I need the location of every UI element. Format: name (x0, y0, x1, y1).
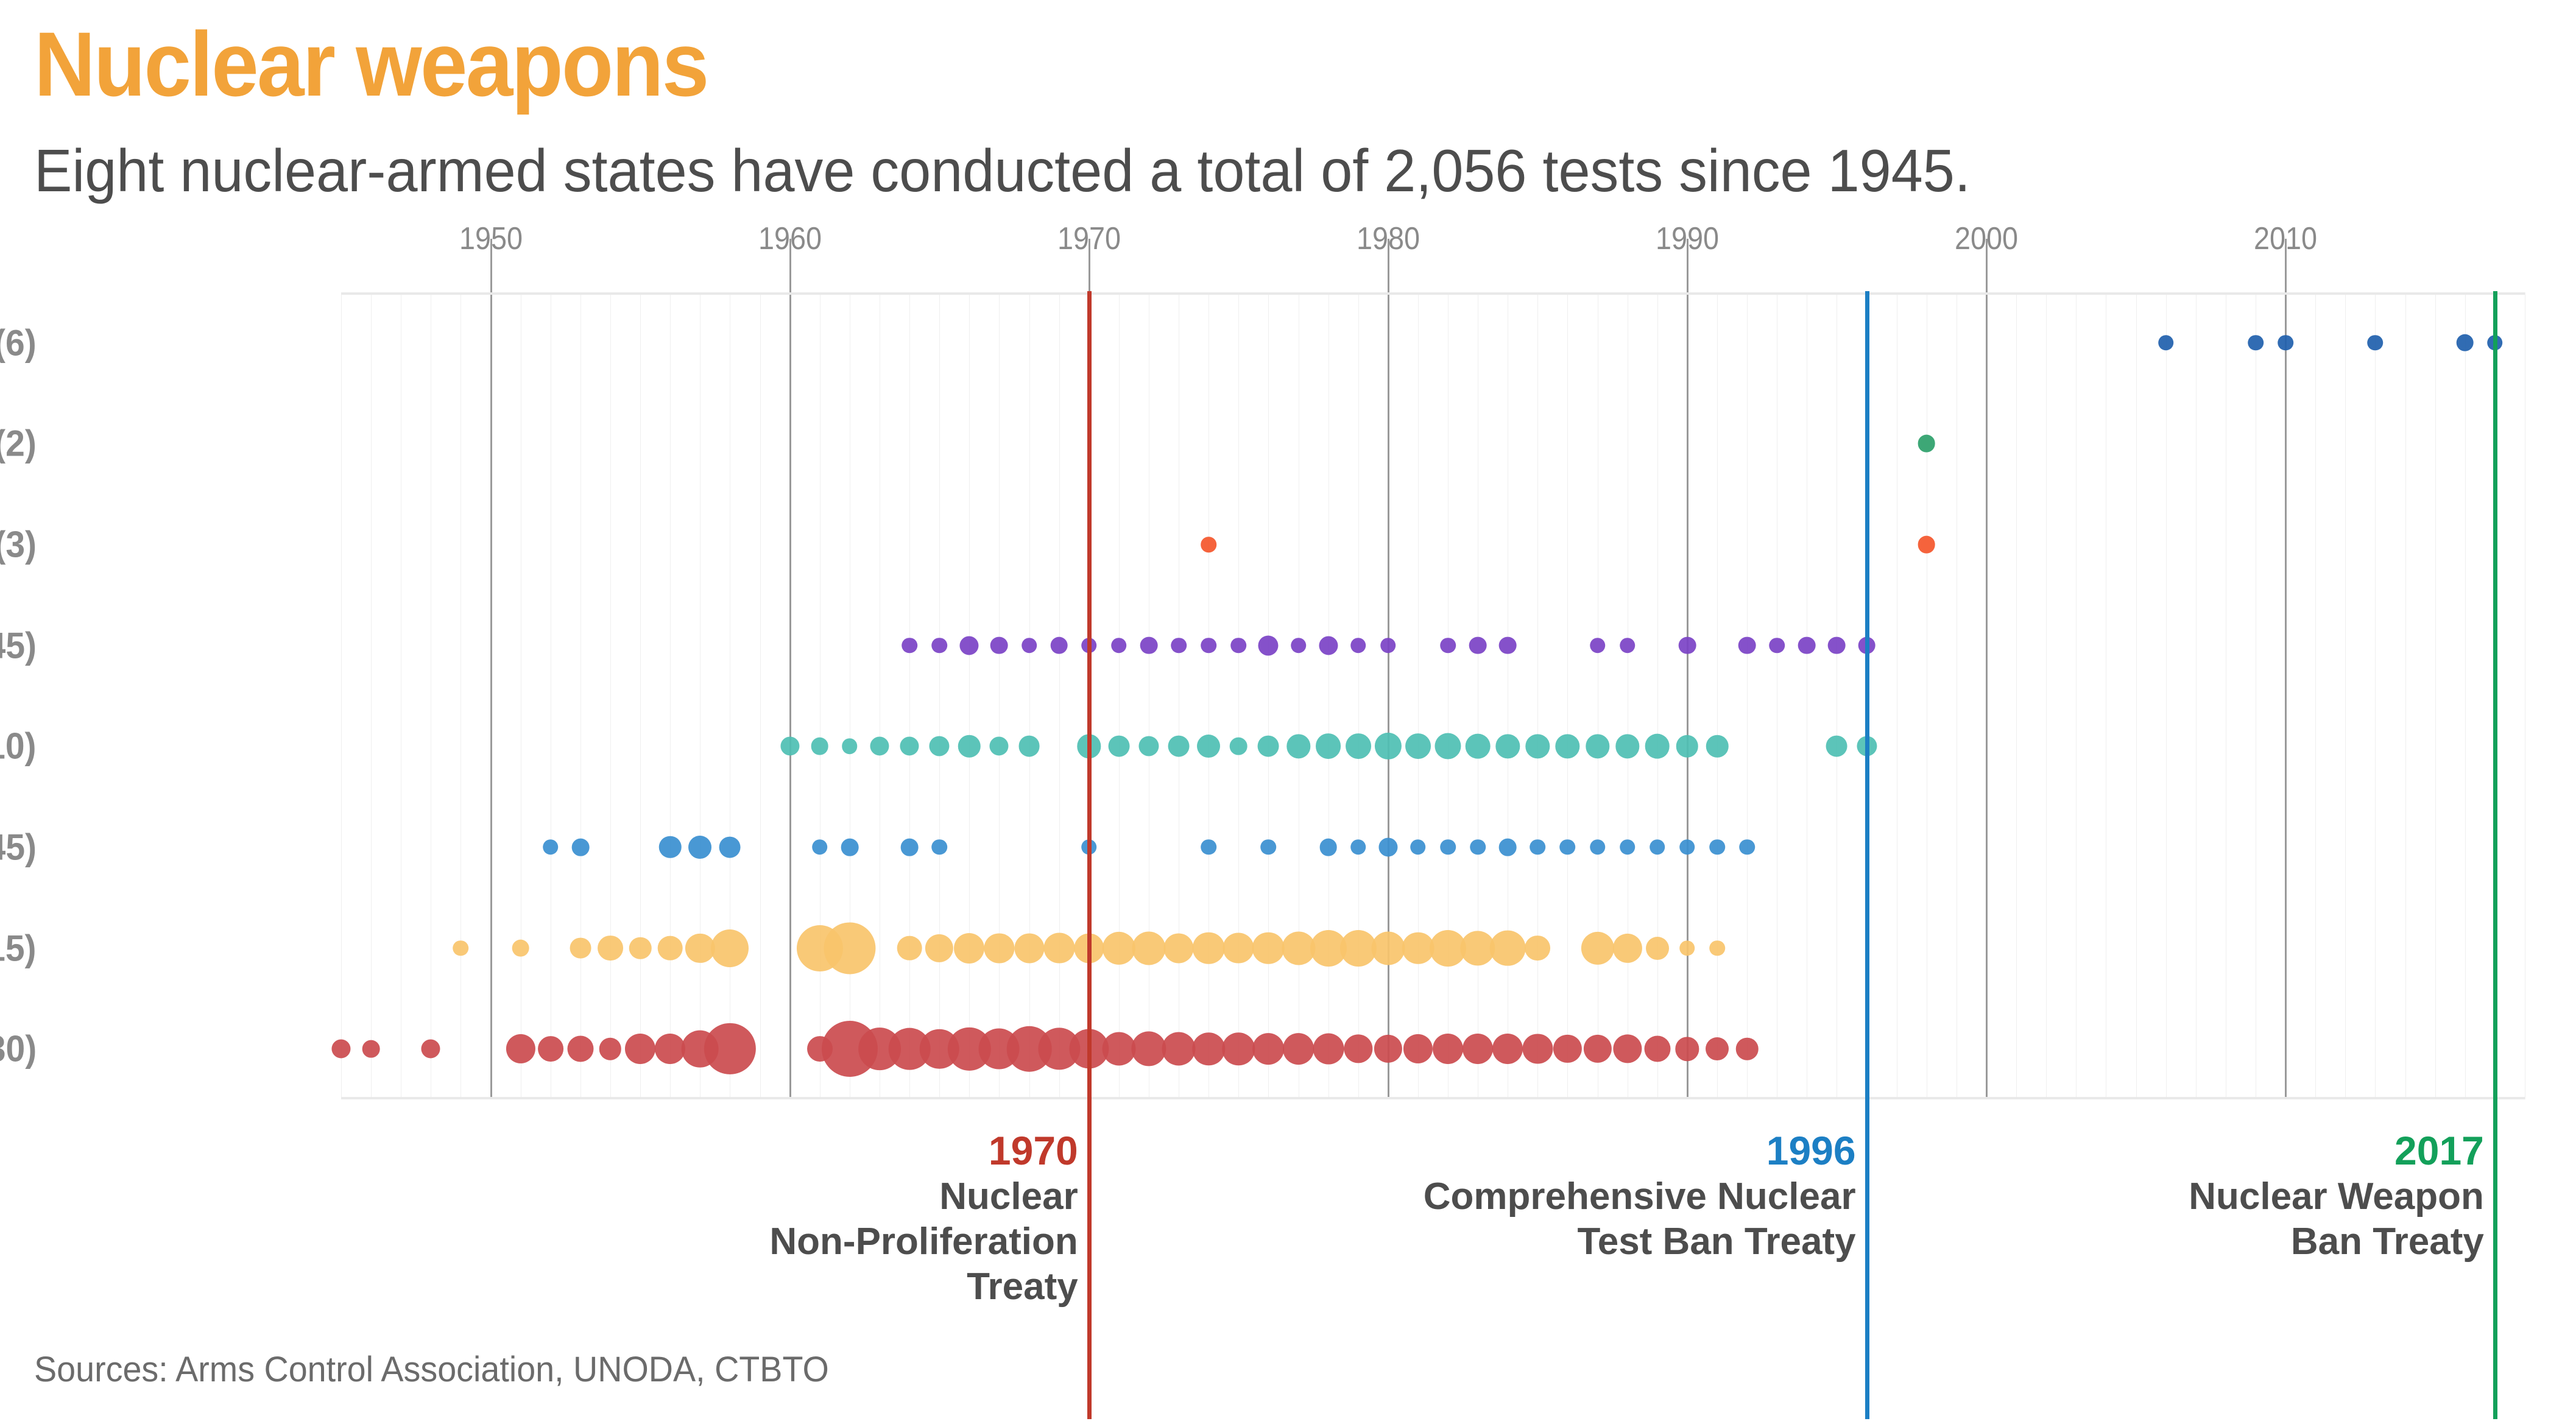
test-bubble (984, 933, 1014, 963)
test-bubble (1530, 839, 1546, 855)
test-bubble (1162, 1032, 1196, 1066)
test-bubble (1435, 733, 1461, 760)
test-bubble (1440, 638, 1456, 654)
treaty-name-line: Ban Treaty (0, 1219, 2484, 1264)
test-bubble (1676, 735, 1699, 758)
test-bubble (1463, 1034, 1493, 1064)
minor-gridline (2345, 292, 2346, 1099)
test-bubble (1583, 1035, 1611, 1063)
country-test-count: (210) (0, 726, 37, 767)
test-bubble (1560, 839, 1576, 855)
minor-gridline (1358, 292, 1359, 1099)
test-bubble (1470, 839, 1486, 855)
test-bubble (1168, 736, 1190, 757)
test-bubble (1380, 638, 1396, 654)
test-bubble (704, 1023, 755, 1074)
test-bubble (659, 836, 682, 859)
test-bubble (1590, 839, 1606, 855)
minor-gridline (2106, 292, 2106, 1099)
test-bubble (841, 839, 859, 856)
test-bubble (1371, 931, 1405, 965)
test-bubble (1258, 736, 1279, 757)
minor-gridline (1657, 292, 1658, 1099)
test-bubble (711, 929, 749, 967)
minor-gridline (999, 292, 1000, 1099)
test-bubble (1675, 1037, 1699, 1061)
minor-gridline (1209, 292, 1209, 1099)
x-tick-label: 1990 (1656, 220, 1719, 257)
x-tick-label: 1950 (459, 220, 522, 257)
test-bubble (1223, 932, 1254, 964)
test-bubble (1201, 537, 1216, 552)
minor-gridline (610, 292, 611, 1099)
minor-gridline (1268, 292, 1269, 1099)
country-label-france: France (210) (0, 725, 37, 767)
test-bubble (1138, 736, 1159, 756)
test-bubble (1252, 932, 1285, 964)
minor-gridline (2375, 292, 2376, 1099)
minor-gridline (1149, 292, 1149, 1099)
test-bubble (870, 737, 889, 756)
test-bubble (925, 934, 953, 962)
test-bubble (362, 1040, 380, 1058)
test-bubble (1523, 1034, 1553, 1064)
country-label-uk: UK (45) (0, 826, 37, 868)
test-bubble (780, 737, 799, 756)
test-bubble (567, 1036, 593, 1062)
test-bubble (599, 1038, 622, 1060)
country-label-china: China (45) (0, 624, 37, 666)
test-bubble (1022, 638, 1037, 654)
minor-gridline (2046, 292, 2047, 1099)
test-bubble (1223, 1032, 1255, 1065)
infographic-root: Nuclear weapons Eight nuclear-armed stat… (0, 0, 2576, 1424)
test-bubble (1645, 734, 1670, 759)
country-label-usa: USA (1,030) (0, 1028, 37, 1070)
minor-gridline (1927, 292, 1927, 1099)
country-test-count: (1,030) (0, 1029, 37, 1070)
test-bubble (930, 736, 950, 756)
test-bubble (960, 636, 979, 655)
test-bubble (543, 839, 559, 855)
test-bubble (1553, 1035, 1581, 1063)
test-bubble (1018, 736, 1040, 757)
test-bubble (1111, 638, 1127, 654)
test-bubble (1433, 1034, 1463, 1064)
minor-gridline (2435, 292, 2436, 1099)
test-bubble (1230, 738, 1247, 755)
test-bubble (1679, 636, 1696, 654)
test-bubble (1378, 837, 1397, 856)
test-bubble (1706, 1037, 1729, 1060)
test-bubble (1918, 435, 1935, 453)
test-bubble (688, 836, 711, 859)
minor-gridline (2196, 292, 2197, 1099)
test-bubble (1346, 733, 1371, 759)
minor-gridline (1029, 292, 1030, 1099)
treaty-name-line: Nuclear Weapon (0, 1174, 2484, 1219)
minor-gridline (521, 292, 521, 1099)
test-bubble (1410, 839, 1426, 855)
test-bubble (331, 1040, 350, 1059)
country-test-count: (3) (0, 524, 37, 565)
minor-gridline (2405, 292, 2406, 1099)
minor-gridline (1957, 292, 1957, 1099)
test-bubble (1258, 635, 1279, 655)
country-test-count: (6) (0, 322, 37, 363)
minor-gridline (1628, 292, 1628, 1099)
minor-gridline (1598, 292, 1598, 1099)
test-bubble (1350, 638, 1366, 654)
minor-gridline (1837, 292, 1837, 1099)
test-bubble (1108, 736, 1129, 757)
test-bubble (658, 936, 683, 960)
minor-gridline (640, 292, 641, 1099)
minor-gridline (371, 292, 372, 1099)
test-bubble (811, 738, 828, 755)
test-bubble (812, 839, 828, 855)
country-test-count: (2) (0, 423, 37, 464)
test-bubble (1283, 1033, 1314, 1065)
test-bubble (1197, 735, 1220, 758)
test-bubble (1826, 736, 1847, 757)
minor-gridline (341, 292, 342, 1099)
minor-gridline (2226, 292, 2226, 1099)
test-bubble (1014, 933, 1044, 963)
test-bubble (512, 939, 529, 957)
test-bubble (453, 940, 469, 956)
test-bubble (824, 922, 875, 974)
test-bubble (1828, 636, 1846, 654)
minor-gridline (1448, 292, 1449, 1099)
test-bubble (1192, 1032, 1224, 1065)
test-bubble (1646, 937, 1669, 960)
test-bubble (1201, 839, 1216, 855)
test-bubble (1201, 638, 1216, 654)
test-bubble (1344, 1035, 1372, 1063)
test-bubble (655, 1034, 685, 1064)
test-bubble (1738, 636, 1756, 654)
minor-gridline (820, 292, 820, 1099)
test-bubble (629, 937, 652, 959)
treaty-annotation-2017: 2017Nuclear WeaponBan Treaty (0, 1127, 2484, 1264)
test-bubble (1466, 734, 1491, 759)
minor-gridline (401, 292, 401, 1099)
minor-gridline (551, 292, 551, 1099)
minor-gridline (880, 292, 880, 1099)
test-bubble (1490, 930, 1526, 966)
minor-gridline (2016, 292, 2017, 1099)
test-bubble (1261, 839, 1277, 855)
test-bubble (506, 1034, 535, 1063)
test-bubble (1374, 1035, 1402, 1063)
country-test-count: (45) (0, 625, 37, 666)
minor-gridline (1537, 292, 1538, 1099)
minor-gridline (1478, 292, 1478, 1099)
test-bubble (990, 737, 1009, 756)
test-bubble (901, 839, 919, 856)
test-bubble (2368, 335, 2384, 351)
test-bubble (1253, 1033, 1285, 1065)
minor-gridline (1747, 292, 1748, 1099)
minor-gridline (760, 292, 761, 1099)
treaty-year: 2017 (0, 1127, 2484, 1174)
test-bubble (990, 636, 1008, 654)
minor-gridline (1329, 292, 1329, 1099)
minor-gridline (1508, 292, 1508, 1099)
minor-gridline (2076, 292, 2077, 1099)
test-bubble (1043, 932, 1075, 964)
test-bubble (1102, 1032, 1135, 1066)
minor-gridline (850, 292, 850, 1099)
test-bubble (2158, 335, 2174, 351)
test-bubble (954, 933, 984, 964)
test-bubble (842, 739, 858, 755)
test-bubble (1286, 735, 1310, 758)
minor-gridline (1567, 292, 1568, 1099)
minor-gridline (730, 292, 730, 1099)
test-bubble (1709, 940, 1725, 956)
minor-gridline (909, 292, 910, 1099)
test-bubble (1736, 1038, 1759, 1060)
minor-gridline (2166, 292, 2167, 1099)
test-bubble (1319, 839, 1337, 856)
minor-gridline (2315, 292, 2316, 1099)
minor-gridline (670, 292, 671, 1099)
minor-gridline (1897, 292, 1897, 1099)
test-bubble (958, 735, 981, 758)
test-bubble (1556, 735, 1579, 758)
test-bubble (1706, 735, 1729, 758)
x-tick-label: 1970 (1057, 220, 1121, 257)
treaty-line-2017 (2493, 291, 2497, 1419)
test-bubble (1679, 940, 1695, 956)
minor-gridline (1777, 292, 1777, 1099)
minor-gridline (1059, 292, 1060, 1099)
test-bubble (1193, 932, 1225, 964)
major-gridline (1687, 239, 1689, 1099)
test-bubble (1739, 839, 1755, 855)
test-bubble (598, 936, 623, 961)
test-bubble (538, 1036, 563, 1062)
test-bubble (1525, 936, 1550, 961)
minor-gridline (2465, 292, 2466, 1099)
minor-gridline (461, 292, 461, 1099)
test-bubble (685, 933, 715, 962)
test-bubble (2248, 335, 2264, 351)
test-bubble (1620, 839, 1636, 855)
test-bubble (1709, 839, 1725, 855)
test-bubble (1469, 636, 1487, 654)
minor-gridline (700, 292, 700, 1099)
minor-gridline (1807, 292, 1807, 1099)
test-bubble (572, 839, 590, 856)
minor-gridline (580, 292, 581, 1099)
minor-gridline (1238, 292, 1239, 1099)
test-bubble (1590, 638, 1606, 654)
test-bubble (1375, 733, 1402, 760)
page-title: Nuclear weapons (34, 18, 708, 110)
country-label-india: India (3) (0, 524, 37, 566)
minor-gridline (1179, 292, 1179, 1099)
test-bubble (1313, 1034, 1344, 1065)
plot-bottom-border (341, 1097, 2525, 1099)
minor-gridline (2525, 292, 2525, 1099)
test-bubble (1679, 839, 1695, 855)
sources-note: Sources: Arms Control Association, UNODA… (34, 1349, 829, 1390)
test-bubble (1103, 931, 1135, 964)
x-tick-label: 2010 (2254, 220, 2317, 257)
test-bubble (1526, 735, 1550, 758)
test-bubble (1620, 638, 1636, 654)
test-bubble (1316, 733, 1341, 759)
test-bubble (1769, 638, 1785, 654)
test-bubble (1132, 931, 1165, 965)
test-bubble (897, 936, 922, 960)
minor-gridline (1418, 292, 1419, 1099)
test-bubble (1164, 933, 1194, 963)
test-bubble (1615, 735, 1639, 758)
test-bubble (1131, 1032, 1166, 1066)
country-test-count: (715) (0, 928, 37, 968)
x-tick-label: 1980 (1357, 220, 1420, 257)
test-bubble (2278, 335, 2293, 351)
plot-top-border (341, 292, 2525, 295)
minor-gridline (1717, 292, 1718, 1099)
test-bubble (1644, 1036, 1670, 1062)
minor-gridline (2256, 292, 2256, 1099)
test-bubble (1405, 733, 1431, 759)
minor-gridline (2136, 292, 2137, 1099)
major-gridline (789, 239, 791, 1099)
minor-gridline (431, 292, 431, 1099)
test-bubble (1403, 1034, 1433, 1063)
test-bubble (1496, 735, 1520, 758)
test-bubble (1650, 839, 1665, 855)
chart-plot-area: 1950196019701980199020002010 (341, 292, 2525, 1099)
test-bubble (625, 1034, 655, 1064)
x-tick-label: 1960 (758, 220, 822, 257)
test-bubble (570, 937, 591, 959)
test-bubble (931, 839, 947, 855)
treaty-name-line: Treaty (0, 1264, 1078, 1309)
page-subtitle: Eight nuclear-armed states have conducte… (34, 140, 1971, 201)
minor-gridline (939, 292, 940, 1099)
test-bubble (1613, 1035, 1642, 1063)
test-bubble (2456, 334, 2474, 351)
x-tick-label: 2000 (1955, 220, 2018, 257)
test-bubble (1798, 636, 1816, 654)
test-bubble (1440, 839, 1456, 855)
major-gridline (2285, 239, 2287, 1099)
test-bubble (1171, 638, 1187, 654)
test-bubble (1499, 839, 1517, 856)
country-test-count: (45) (0, 827, 37, 867)
major-gridline (490, 239, 492, 1099)
country-label-pakistan: Pakistan (2) (0, 423, 37, 465)
test-bubble (900, 737, 919, 756)
test-bubble (1231, 638, 1247, 654)
major-gridline (1986, 239, 1988, 1099)
test-bubble (1319, 636, 1338, 655)
test-bubble (1613, 933, 1642, 962)
test-bubble (1918, 536, 1935, 554)
test-bubble (1050, 636, 1068, 654)
test-bubble (1492, 1034, 1523, 1064)
test-bubble (1350, 839, 1366, 855)
test-bubble (931, 638, 947, 654)
minor-gridline (969, 292, 970, 1099)
test-bubble (902, 638, 917, 654)
country-label-north-korea: North Korea (6) (0, 322, 37, 364)
test-bubble (422, 1040, 440, 1059)
country-label-russia: Russia (715) (0, 927, 37, 969)
test-bubble (719, 837, 741, 858)
test-bubble (1499, 636, 1517, 654)
test-bubble (1140, 636, 1158, 654)
test-bubble (1291, 638, 1307, 654)
test-bubble (1586, 735, 1609, 758)
test-bubble (1581, 931, 1614, 964)
minor-gridline (1299, 292, 1299, 1099)
minor-gridline (1119, 292, 1120, 1099)
major-gridline (1388, 239, 1389, 1099)
